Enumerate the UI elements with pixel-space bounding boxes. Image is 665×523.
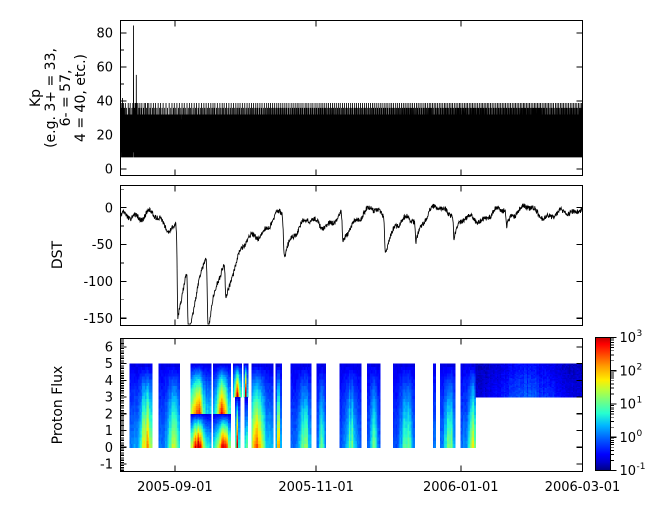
colorbar-exponent-0: -1 (637, 462, 646, 472)
proton-heatmap (130, 364, 583, 448)
panel-kp: 0 20 40 60 80 Kp (e.g. 3+ = 33, 6- = 57,… (28, 21, 583, 178)
dst-ytick-0: 0 (105, 201, 113, 216)
proton-ytick-3: 3 (105, 391, 113, 406)
dst-ytick-m100: -100 (83, 275, 113, 290)
dst-xticks (175, 186, 461, 326)
proton-ytick--1: -1 (100, 458, 113, 473)
xtick-label-3: 2006-03-01 (545, 480, 621, 495)
colorbar-label-0: 10 (620, 464, 637, 479)
colorbar-gradient (596, 338, 611, 471)
colorbar-exponent-3: 2 (637, 362, 643, 372)
colorbar-label-2: 10 (620, 398, 637, 413)
kp-ylabel-line-2: (e.g. 3+ = 33, (43, 48, 59, 148)
dst-yticks (121, 189, 583, 318)
xtick-label-2: 2006-01-01 (423, 480, 499, 495)
dst-ytick-m150: -150 (83, 312, 113, 327)
panel-proton: -10123456 Proton Flux 2005-09-01 2005-11… (50, 339, 620, 496)
colorbar-tick-labels: 10-1100101102103 (620, 329, 646, 479)
dst-ylabel: DST (50, 240, 66, 269)
panel-dst: 0 -50 -100 -150 DST (50, 186, 583, 327)
proton-ytick-4: 4 (105, 374, 113, 389)
colorbar-exponent-2: 1 (637, 396, 643, 406)
colorbar-label-3: 10 (620, 364, 637, 379)
colorbar: 10-1100101102103 (596, 329, 646, 479)
proton-ytick-6: 6 (105, 340, 113, 355)
colorbar-exponent-4: 3 (637, 329, 643, 339)
kp-ytick-40: 40 (96, 95, 113, 110)
proton-ytick-0: 0 (105, 441, 113, 456)
xaxis-tick-labels: 2005-09-01 2005-11-01 2006-01-01 2006-03… (137, 480, 620, 495)
kp-ylabel-line-1: Kp (28, 89, 44, 107)
dst-data-trace (121, 203, 583, 324)
colorbar-label-1: 10 (620, 431, 637, 446)
xtick-label-0: 2005-09-01 (137, 480, 213, 495)
colorbar-exponent-1: 0 (637, 429, 643, 439)
colorbar-ticks (611, 338, 617, 471)
dst-frame (121, 186, 583, 326)
proton-ytick-5: 5 (105, 357, 113, 372)
proton-ytick-1: 1 (105, 424, 113, 439)
proton-ytick-2: 2 (105, 407, 113, 422)
figure-canvas: 0 20 40 60 80 Kp (e.g. 3+ = 33, 6- = 57,… (0, 0, 665, 523)
kp-ytick-80: 80 (96, 27, 113, 42)
dst-ytick-m50: -50 (92, 238, 113, 253)
kp-ylabel-line-3: 6- = 57, (58, 70, 74, 127)
proton-ytick-labels: -10123456 (100, 340, 113, 472)
kp-ylabel-line-4: 4 = 40, etc.) (73, 54, 89, 142)
kp-axis-title: Kp (e.g. 3+ = 33, 6- = 57, 4 = 40, etc.) (28, 48, 89, 148)
colorbar-label-4: 10 (620, 331, 637, 346)
kp-ytick-0: 0 (105, 163, 113, 178)
kp-ytick-20: 20 (96, 129, 113, 144)
proton-ylabel: Proton Flux (50, 366, 66, 445)
xtick-label-1: 2005-11-01 (278, 480, 354, 495)
kp-ytick-60: 60 (96, 61, 113, 76)
kp-data-trace (121, 25, 583, 157)
plot-svg: 0 20 40 60 80 Kp (e.g. 3+ = 33, 6- = 57,… (0, 0, 665, 523)
